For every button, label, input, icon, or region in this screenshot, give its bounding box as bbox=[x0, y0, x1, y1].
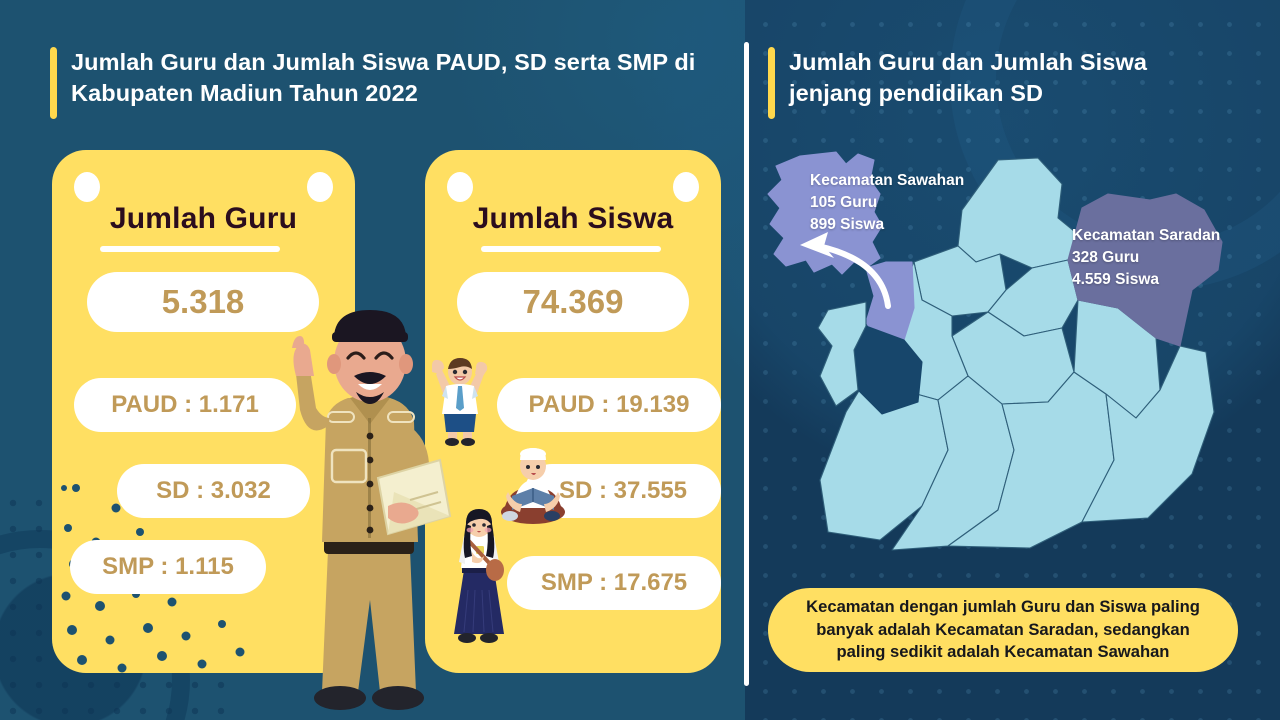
map-label-sawahan: Kecamatan Sawahan 105 Guru 899 Siswa bbox=[810, 170, 964, 236]
card-siswa-title: Jumlah Siswa bbox=[425, 202, 721, 236]
card-punch-hole-left bbox=[74, 172, 100, 202]
girl-student-illustration bbox=[448, 508, 510, 648]
title-accent-bar bbox=[50, 47, 57, 119]
card-siswa-total: 74.369 bbox=[457, 272, 689, 332]
title-accent-bar bbox=[768, 47, 775, 119]
left-title-block: Jumlah Guru dan Jumlah Siswa PAUD, SD se… bbox=[50, 47, 710, 119]
card-guru-title-rule bbox=[100, 246, 280, 252]
map-label-sawahan-guru: 105 Guru bbox=[810, 192, 964, 214]
right-title-text: Jumlah Guru dan Jumlah Siswa jenjang pen… bbox=[789, 47, 1228, 110]
left-title-text: Jumlah Guru dan Jumlah Siswa PAUD, SD se… bbox=[71, 47, 710, 110]
boy-student-illustration bbox=[424, 356, 496, 446]
infographic-canvas: Jumlah Guru dan Jumlah Siswa PAUD, SD se… bbox=[0, 0, 1280, 720]
card-punch-hole-right bbox=[307, 172, 333, 202]
map-label-saradan-guru: 328 Guru bbox=[1072, 247, 1220, 269]
card-siswa-row-smp: SMP : 17.675 bbox=[507, 556, 721, 610]
card-guru-row-smp: SMP : 1.115 bbox=[70, 540, 266, 594]
card-guru-title: Jumlah Guru bbox=[52, 202, 355, 236]
card-siswa-row-paud: PAUD : 19.139 bbox=[497, 378, 721, 432]
map-caption-box: Kecamatan dengan jumlah Guru dan Siswa p… bbox=[768, 588, 1238, 672]
right-title-block: Jumlah Guru dan Jumlah Siswa jenjang pen… bbox=[768, 47, 1228, 119]
map-label-saradan: Kecamatan Saradan 328 Guru 4.559 Siswa bbox=[1072, 225, 1220, 291]
map-region-north bbox=[958, 158, 1080, 268]
card-siswa-title-rule bbox=[481, 246, 661, 252]
map-label-saradan-siswa: 4.559 Siswa bbox=[1072, 269, 1220, 291]
map-label-saradan-name: Kecamatan Saradan bbox=[1072, 225, 1220, 247]
card-guru-row-paud: PAUD : 1.171 bbox=[74, 378, 296, 432]
panel-divider bbox=[744, 42, 749, 686]
map-label-sawahan-siswa: 899 Siswa bbox=[810, 214, 964, 236]
card-punch-hole-right bbox=[673, 172, 699, 202]
map-label-sawahan-name: Kecamatan Sawahan bbox=[810, 170, 964, 192]
madiun-district-map: Kecamatan Sawahan 105 Guru 899 Siswa Kec… bbox=[762, 150, 1262, 580]
card-punch-hole-left bbox=[447, 172, 473, 202]
